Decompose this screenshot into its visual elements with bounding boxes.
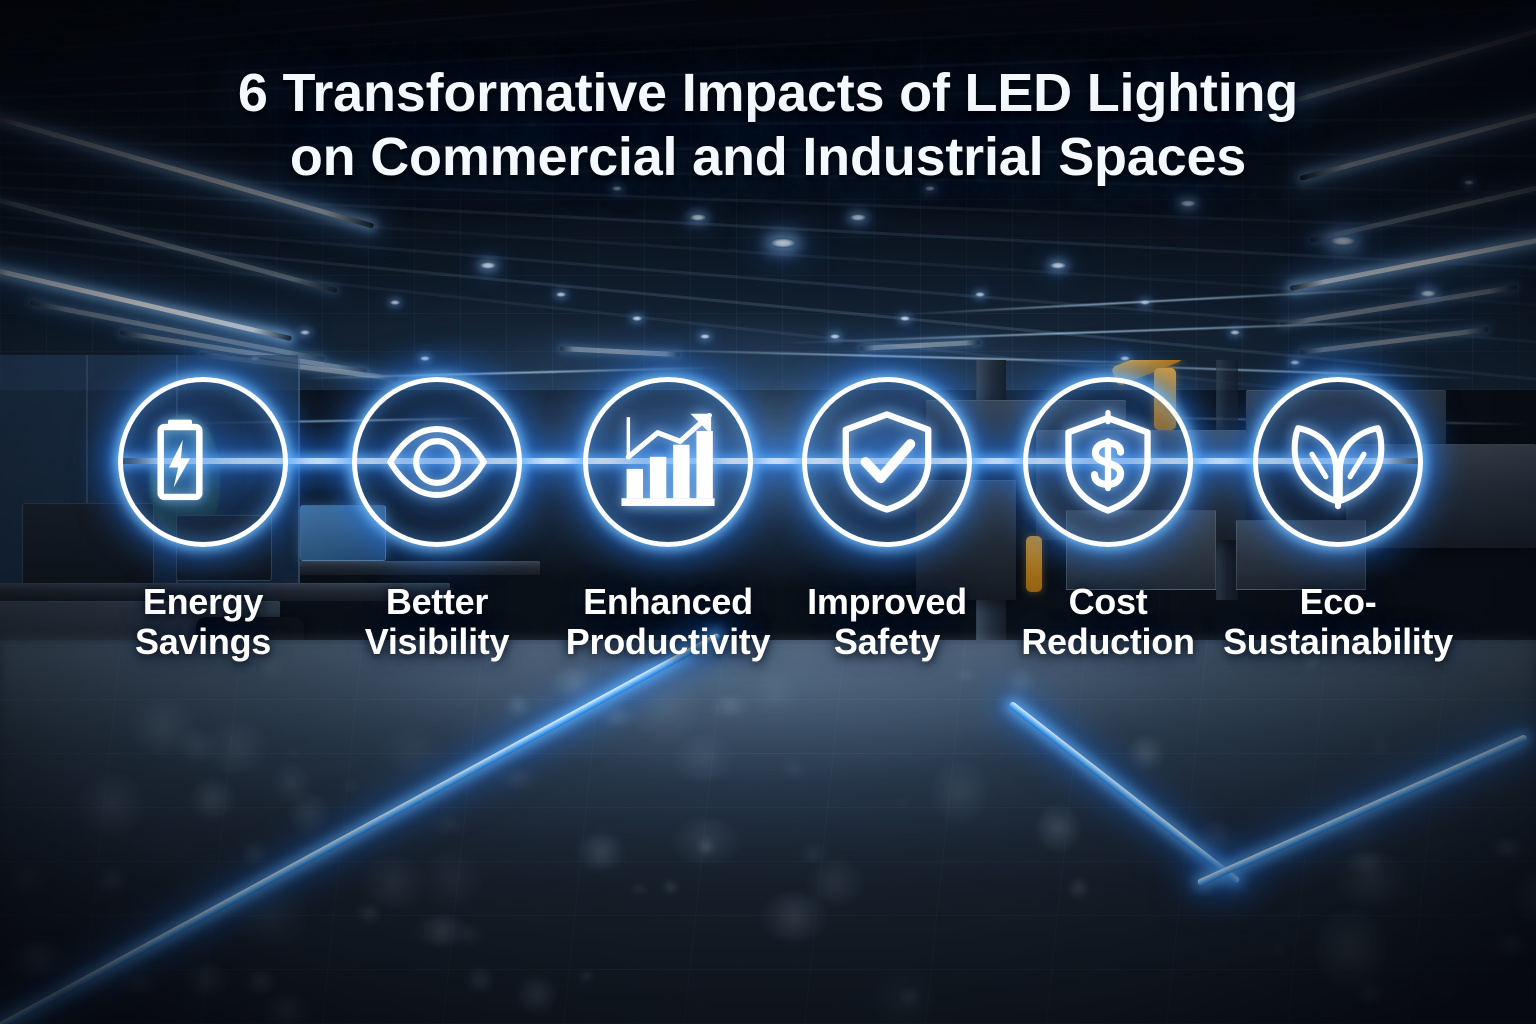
impact-label-6: Eco-Sustainability [1168, 582, 1508, 663]
impact-label-line-1: Eco- [1168, 582, 1508, 622]
battery-bolt-icon [118, 377, 288, 547]
impact-node-2[interactable] [352, 377, 522, 547]
impact-node-3[interactable] [583, 377, 753, 547]
impact-node-6[interactable] [1253, 377, 1423, 547]
impact-node-row: EnergySavings BetterVisibility EnhancedP… [0, 0, 1536, 1024]
impact-node-4[interactable] [802, 377, 972, 547]
impact-label-line-2: Sustainability [1168, 622, 1508, 662]
shield-dollar-icon [1023, 377, 1193, 547]
infographic-canvas: 6 Transformative Impacts of LED Lighting… [0, 0, 1536, 1024]
eye-icon [352, 377, 522, 547]
bar-chart-up-icon [583, 377, 753, 547]
leaves-icon [1253, 377, 1423, 547]
impact-node-5[interactable] [1023, 377, 1193, 547]
impact-node-1[interactable] [118, 377, 288, 547]
shield-check-icon [802, 377, 972, 547]
